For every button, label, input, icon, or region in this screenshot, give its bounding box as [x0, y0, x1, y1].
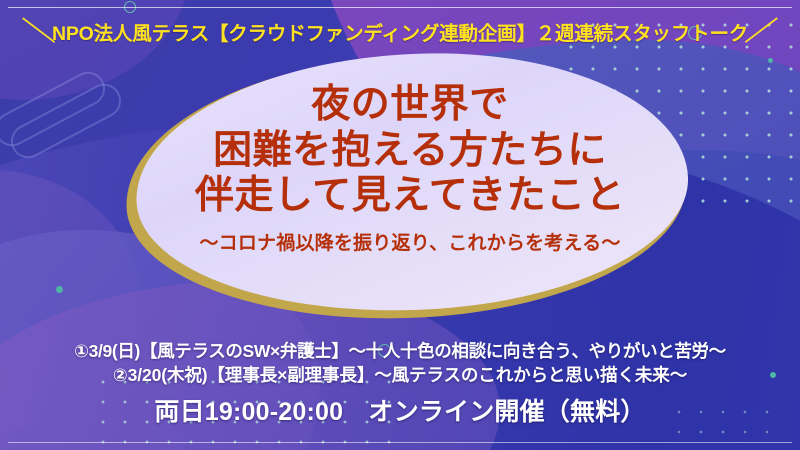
title-line-3: 伴走して見えてきたこと [195, 173, 625, 219]
event-time-and-format: 両日19:00-20:00 オンライン開催（無料） [0, 392, 800, 428]
session-line-2: ②3/20(木祝)【理事長×副理事長】〜風テラスのこれからと思い描く未来〜 [0, 363, 800, 387]
divider-line-bottom [8, 442, 792, 443]
header-title: NPO法人風テラス【クラウドファンディング連動企画】２週連続スタッフトーク [52, 17, 748, 46]
divider-line-top [8, 7, 792, 8]
title-subtitle: 〜コロナ禍以降を振り返り、これからを考える〜 [199, 228, 620, 255]
accent-dot-top-right [768, 58, 773, 63]
header-banner: ＼ NPO法人風テラス【クラウドファンディング連動企画】２週連続スタッフトーク … [0, 14, 800, 48]
decorative-loop-outline-2 [5, 78, 127, 164]
event-poster: ＼ NPO法人風テラス【クラウドファンディング連動企画】２週連続スタッフトーク … [0, 0, 800, 450]
event-details-block: ①3/9(日)【風テラスのSW×弁護士】〜十人十色の相談に向き合う、やりがいと苦… [0, 339, 800, 428]
slash-right-icon: ／ [744, 18, 778, 44]
title-block: 夜の世界で 困難を抱える方たちに 伴走して見えてきたこと 〜コロナ禍以降を振り返… [130, 62, 690, 302]
title-line-2: 困難を抱える方たちに [213, 128, 607, 174]
accent-dot-left [56, 286, 63, 293]
decorative-loop-outline-1 [0, 66, 111, 152]
title-line-1: 夜の世界で [311, 82, 509, 128]
session-line-1: ①3/9(日)【風テラスのSW×弁護士】〜十人十色の相談に向き合う、やりがいと苦… [0, 339, 800, 363]
